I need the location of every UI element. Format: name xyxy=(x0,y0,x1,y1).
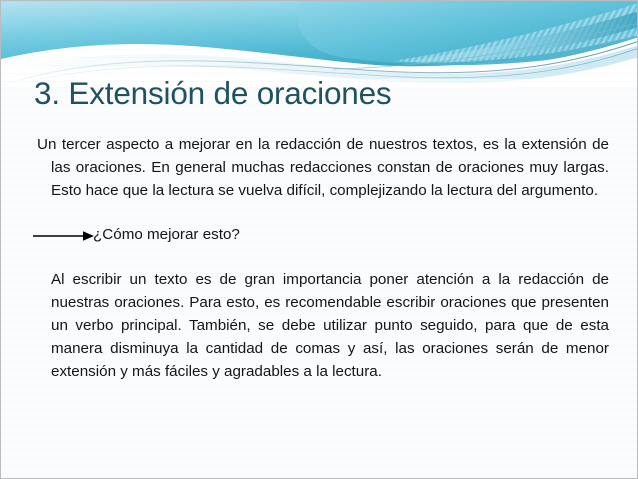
paragraph-advice: Al escribir un texto es de gran importan… xyxy=(29,268,609,384)
right-arrow-icon xyxy=(33,229,95,243)
paragraph-intro: Un tercer aspecto a mejorar en la redacc… xyxy=(29,133,609,203)
question-callout: ¿Cómo mejorar esto? xyxy=(29,223,609,249)
slide: 3. Extensión de oraciones Un tercer aspe… xyxy=(0,0,638,479)
slide-body: Un tercer aspecto a mejorar en la redacc… xyxy=(29,133,609,384)
page-title: 3. Extensión de oraciones xyxy=(34,75,614,111)
question-text: ¿Cómo mejorar esto? xyxy=(93,223,240,246)
